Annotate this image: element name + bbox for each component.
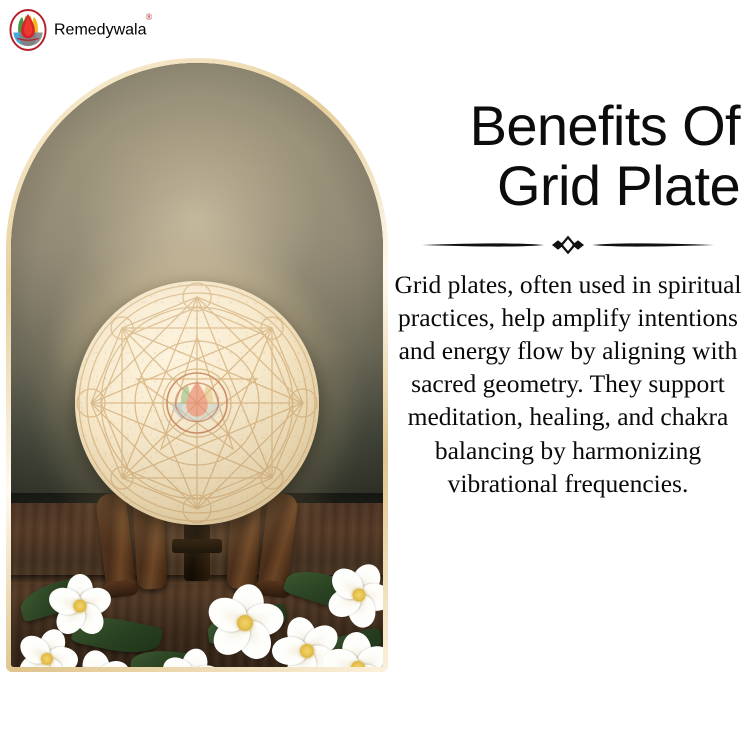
grid-plate-disc — [75, 281, 319, 525]
plate-shading — [75, 281, 319, 525]
brand-name-text: Remedywala — [54, 22, 146, 39]
page-title: Benefits Of Grid Plate — [392, 96, 744, 216]
jasmine-flower — [161, 649, 221, 667]
lotus-droplet-logo-icon — [8, 9, 48, 51]
registered-trademark-symbol: ® — [145, 12, 152, 22]
headline-line-2: Grid Plate — [497, 154, 740, 217]
brand-header[interactable]: Remedywala® — [8, 8, 153, 52]
ornamental-divider-icon — [392, 234, 744, 256]
product-photo — [11, 63, 383, 667]
jasmine-flower — [323, 633, 383, 667]
poster-canvas: Remedywala® — [0, 0, 750, 750]
brand-wordmark: Remedywala® — [54, 20, 153, 39]
headline-line-1: Benefits Of — [470, 94, 740, 157]
jasmine-flower — [327, 563, 383, 627]
content-column: Benefits Of Grid Plate Grid plates, ofte… — [392, 96, 744, 500]
jasmine-flower — [67, 651, 131, 667]
body-copy: Grid plates, often used in spiritual pra… — [392, 268, 744, 500]
product-image-frame — [6, 58, 388, 672]
jasmine-flower — [49, 575, 111, 637]
